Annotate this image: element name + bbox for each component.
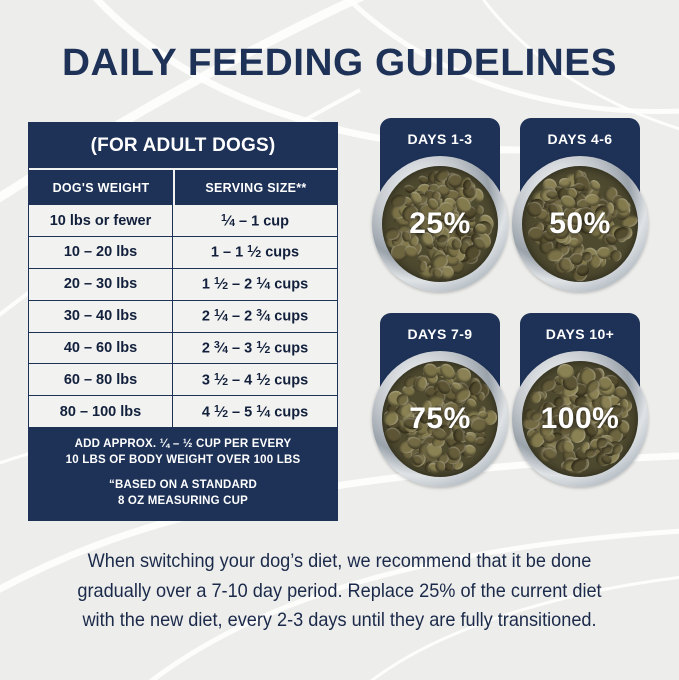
table-row: 80 – 100 lbs4 1⁄2 – 5 1⁄4 cups <box>29 396 337 428</box>
table-row: 30 – 40 lbs2 1⁄4 – 2 3⁄4 cups <box>29 301 337 333</box>
food-bowl: 25% <box>372 156 508 292</box>
cell-dog-weight: 10 – 20 lbs <box>29 237 173 269</box>
card-percent-label: 50% <box>512 156 648 292</box>
cell-serving-size: 1⁄4 – 1 cup <box>173 205 337 237</box>
cell-serving-size: 4 1⁄2 – 5 1⁄4 cups <box>173 396 337 428</box>
footer-line-2: gradually over a 7-10 day period. Replac… <box>54 577 626 607</box>
cell-dog-weight: 30 – 40 lbs <box>29 301 173 333</box>
feeding-guidelines-page: DAILY FEEDING GUIDELINES (FOR ADULT DOGS… <box>0 0 679 680</box>
card-days-label: DAYS 10+ <box>520 313 640 342</box>
table-row: 10 – 20 lbs1 – 1 1⁄2 cups <box>29 237 337 269</box>
note-line-4: 8 OZ MEASURING CUP <box>35 494 331 510</box>
table-row: 60 – 80 lbs3 1⁄2 – 4 1⁄2 cups <box>29 364 337 396</box>
cell-serving-size: 3 1⁄2 – 4 1⁄2 cups <box>173 364 337 396</box>
food-bowl: 50% <box>512 156 648 292</box>
cell-serving-size: 1 – 1 1⁄2 cups <box>173 237 337 269</box>
food-bowl: 100% <box>512 351 648 487</box>
cell-dog-weight: 10 lbs or fewer <box>29 205 173 237</box>
card-percent-label: 25% <box>372 156 508 292</box>
table-note-add-approx: ADD APPROX. ¼ – ½ CUP PER EVERY 10 LBS O… <box>29 428 337 472</box>
card-days-label: DAYS 4-6 <box>520 118 640 147</box>
table-header-row: DOG'S WEIGHT SERVING SIZE** <box>29 168 337 205</box>
card-days-label: DAYS 1-3 <box>380 118 500 147</box>
cell-serving-size: 2 3⁄4 – 3 1⁄2 cups <box>173 333 337 365</box>
feeding-table: (FOR ADULT DOGS) DOG'S WEIGHT SERVING SI… <box>28 122 338 521</box>
table-row: 10 lbs or fewer1⁄4 – 1 cup <box>29 205 337 237</box>
cell-serving-size: 2 1⁄4 – 2 3⁄4 cups <box>173 301 337 333</box>
cell-dog-weight: 40 – 60 lbs <box>29 333 173 365</box>
table-row: 40 – 60 lbs2 3⁄4 – 3 1⁄2 cups <box>29 333 337 365</box>
cell-dog-weight: 60 – 80 lbs <box>29 364 173 396</box>
table-note-measuring-cup: “BASED ON A STANDARD 8 OZ MEASURING CUP <box>29 472 337 520</box>
note-line-3: “BASED ON A STANDARD <box>35 478 331 494</box>
footer-line-1: When switching your dog’s diet, we recom… <box>54 547 626 577</box>
table-row: 20 – 30 lbs1 1⁄2 – 2 1⁄4 cups <box>29 269 337 301</box>
note-line-1: ADD APPROX. ¼ – ½ CUP PER EVERY <box>35 437 331 453</box>
page-title: DAILY FEEDING GUIDELINES <box>0 42 679 85</box>
note-line-2: 10 LBS OF BODY WEIGHT OVER 100 LBS <box>35 453 331 469</box>
column-header-weight: DOG'S WEIGHT <box>29 170 173 205</box>
cell-serving-size: 1 1⁄2 – 2 1⁄4 cups <box>173 269 337 301</box>
food-bowl: 75% <box>372 351 508 487</box>
cell-dog-weight: 20 – 30 lbs <box>29 269 173 301</box>
footer-line-3: with the new diet, every 2-3 days until … <box>54 606 626 636</box>
table-title: (FOR ADULT DOGS) <box>29 123 337 168</box>
table-body: 10 lbs or fewer1⁄4 – 1 cup10 – 20 lbs1 –… <box>29 205 337 428</box>
card-days-label: DAYS 7-9 <box>380 313 500 342</box>
column-header-serving: SERVING SIZE** <box>173 170 337 205</box>
footer-note: When switching your dog’s diet, we recom… <box>54 547 626 636</box>
card-percent-label: 100% <box>512 351 648 487</box>
card-percent-label: 75% <box>372 351 508 487</box>
cell-dog-weight: 80 – 100 lbs <box>29 396 173 428</box>
